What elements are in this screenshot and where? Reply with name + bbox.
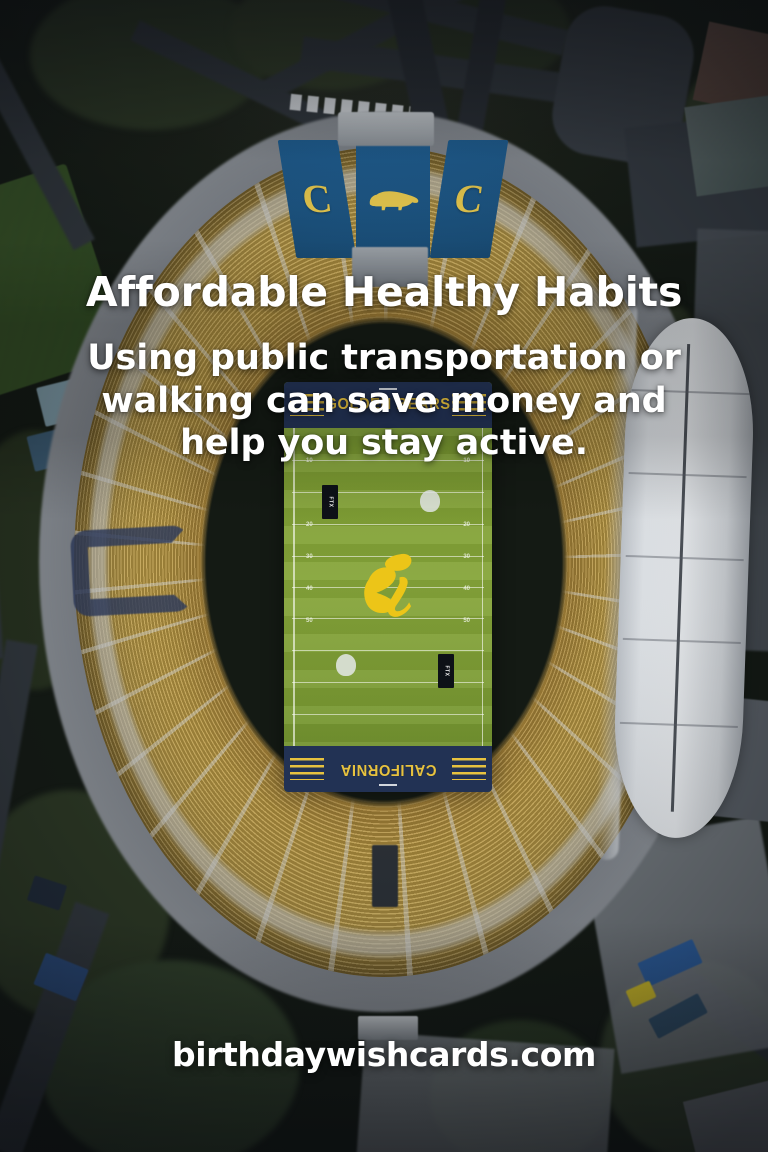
- site-url: birthdaywishcards.com: [0, 1038, 768, 1071]
- social-media-card: C C: [0, 0, 768, 1152]
- text-overlay: Affordable Healthy Habits Using public t…: [0, 0, 768, 1152]
- page-title: Affordable Healthy Habits: [0, 270, 768, 314]
- tip-message: Using public transportation or walking c…: [0, 337, 768, 465]
